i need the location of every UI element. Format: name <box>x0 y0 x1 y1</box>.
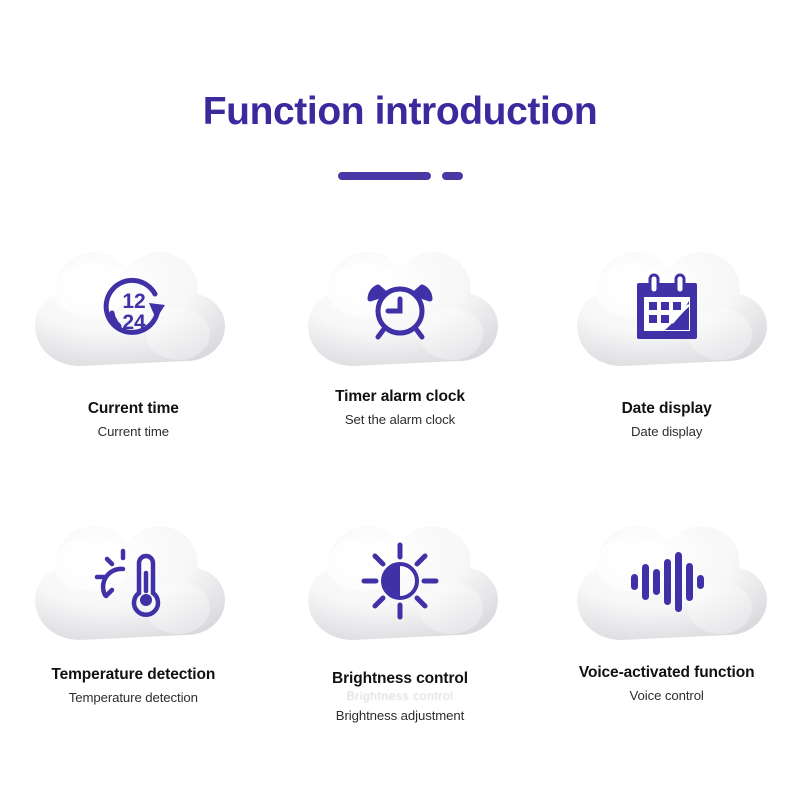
caption: Brightness control Brightness control Br… <box>267 670 534 724</box>
brightness-sun-icon <box>354 535 446 627</box>
alarm-clock-icon <box>354 261 446 353</box>
feature-title: Current time <box>10 400 257 418</box>
cloud-wrap <box>533 232 800 382</box>
feature-title: Temperature detection <box>10 666 257 684</box>
svg-text:12: 12 <box>123 290 146 313</box>
calendar-icon <box>621 261 713 353</box>
title-divider <box>0 172 800 180</box>
feature-card-voice-activated-function[interactable]: Voice-activated function Voice control <box>533 506 800 746</box>
ghost-artifact-text: Brightness control <box>277 690 524 702</box>
feature-title: Date display <box>543 400 790 418</box>
feature-subtitle: Voice control <box>543 688 790 704</box>
feature-card-brightness-control[interactable]: Brightness control Brightness control Br… <box>267 506 534 746</box>
feature-subtitle: Date display <box>543 424 790 440</box>
divider-bar-long <box>338 172 431 180</box>
page-header: Function introduction <box>0 0 800 180</box>
feature-subtitle: Temperature detection <box>10 690 257 706</box>
feature-grid: 12 24 Current time Current time <box>0 232 800 746</box>
feature-card-temperature-detection[interactable]: Temperature detection Temperature detect… <box>0 506 267 746</box>
caption: Timer alarm clock Set the alarm clock <box>267 388 534 428</box>
12-24-hour-clock-icon: 12 24 <box>87 261 179 353</box>
page-title: Function introduction <box>0 92 800 131</box>
sound-wave-icon <box>621 535 713 627</box>
caption: Current time Current time <box>0 400 267 440</box>
cloud-wrap: 12 24 <box>0 232 267 382</box>
caption: Date display Date display <box>533 400 800 440</box>
thermometer-sun-icon <box>87 535 179 627</box>
svg-text:24: 24 <box>123 311 147 334</box>
cloud-wrap <box>267 232 534 382</box>
feature-subtitle: Brightness adjustment <box>277 708 524 724</box>
divider-bar-short <box>442 172 463 180</box>
caption: Temperature detection Temperature detect… <box>0 666 267 706</box>
feature-title: Voice-activated function <box>543 664 790 682</box>
cloud-wrap <box>533 506 800 656</box>
cloud-wrap <box>267 506 534 656</box>
feature-subtitle: Set the alarm clock <box>277 412 524 428</box>
caption: Voice-activated function Voice control <box>533 664 800 704</box>
feature-title: Timer alarm clock <box>277 388 524 406</box>
feature-card-timer-alarm-clock[interactable]: Timer alarm clock Set the alarm clock <box>267 232 534 472</box>
feature-card-current-time[interactable]: 12 24 Current time Current time <box>0 232 267 472</box>
feature-title: Brightness control <box>277 670 524 688</box>
function-introduction-page: Function introduction <box>0 0 800 800</box>
feature-subtitle: Current time <box>10 424 257 440</box>
cloud-wrap <box>0 506 267 656</box>
feature-card-date-display[interactable]: Date display Date display <box>533 232 800 472</box>
